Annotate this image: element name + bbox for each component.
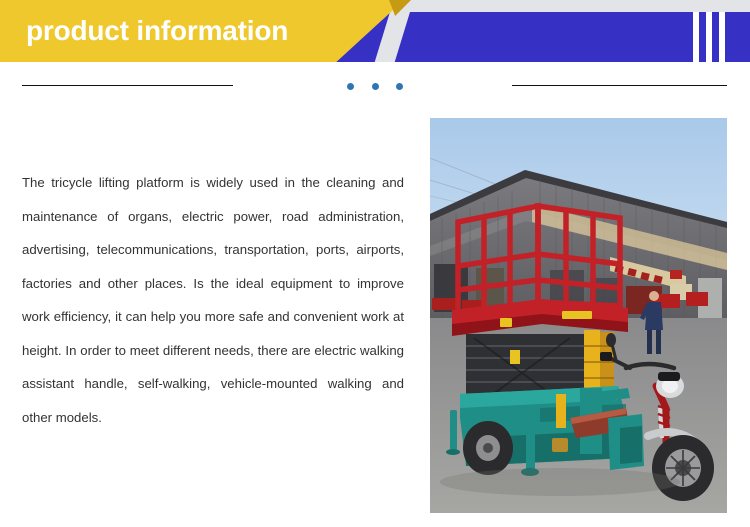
header-stripe-2 xyxy=(706,12,712,62)
header-stripe-3 xyxy=(719,12,725,62)
divider-dot-2 xyxy=(372,83,379,90)
divider-rule-right xyxy=(512,85,727,86)
rear-wheel xyxy=(463,421,513,475)
product-photo-illustration xyxy=(430,118,727,513)
product-description-paragraph: The tricycle lifting platform is widely … xyxy=(22,166,404,434)
page-header-banner: product information xyxy=(0,0,750,62)
front-wheel xyxy=(652,435,714,501)
page-title: product information xyxy=(26,11,288,51)
product-description: The tricycle lifting platform is widely … xyxy=(22,166,404,434)
section-divider xyxy=(0,70,750,98)
divider-dot-1 xyxy=(347,83,354,90)
lift-guardrail xyxy=(458,206,620,314)
divider-dot-group xyxy=(347,80,403,92)
product-photo xyxy=(430,118,727,513)
divider-dot-3 xyxy=(396,83,403,90)
header-stripe-1 xyxy=(693,12,699,62)
divider-rule-left xyxy=(22,85,233,86)
